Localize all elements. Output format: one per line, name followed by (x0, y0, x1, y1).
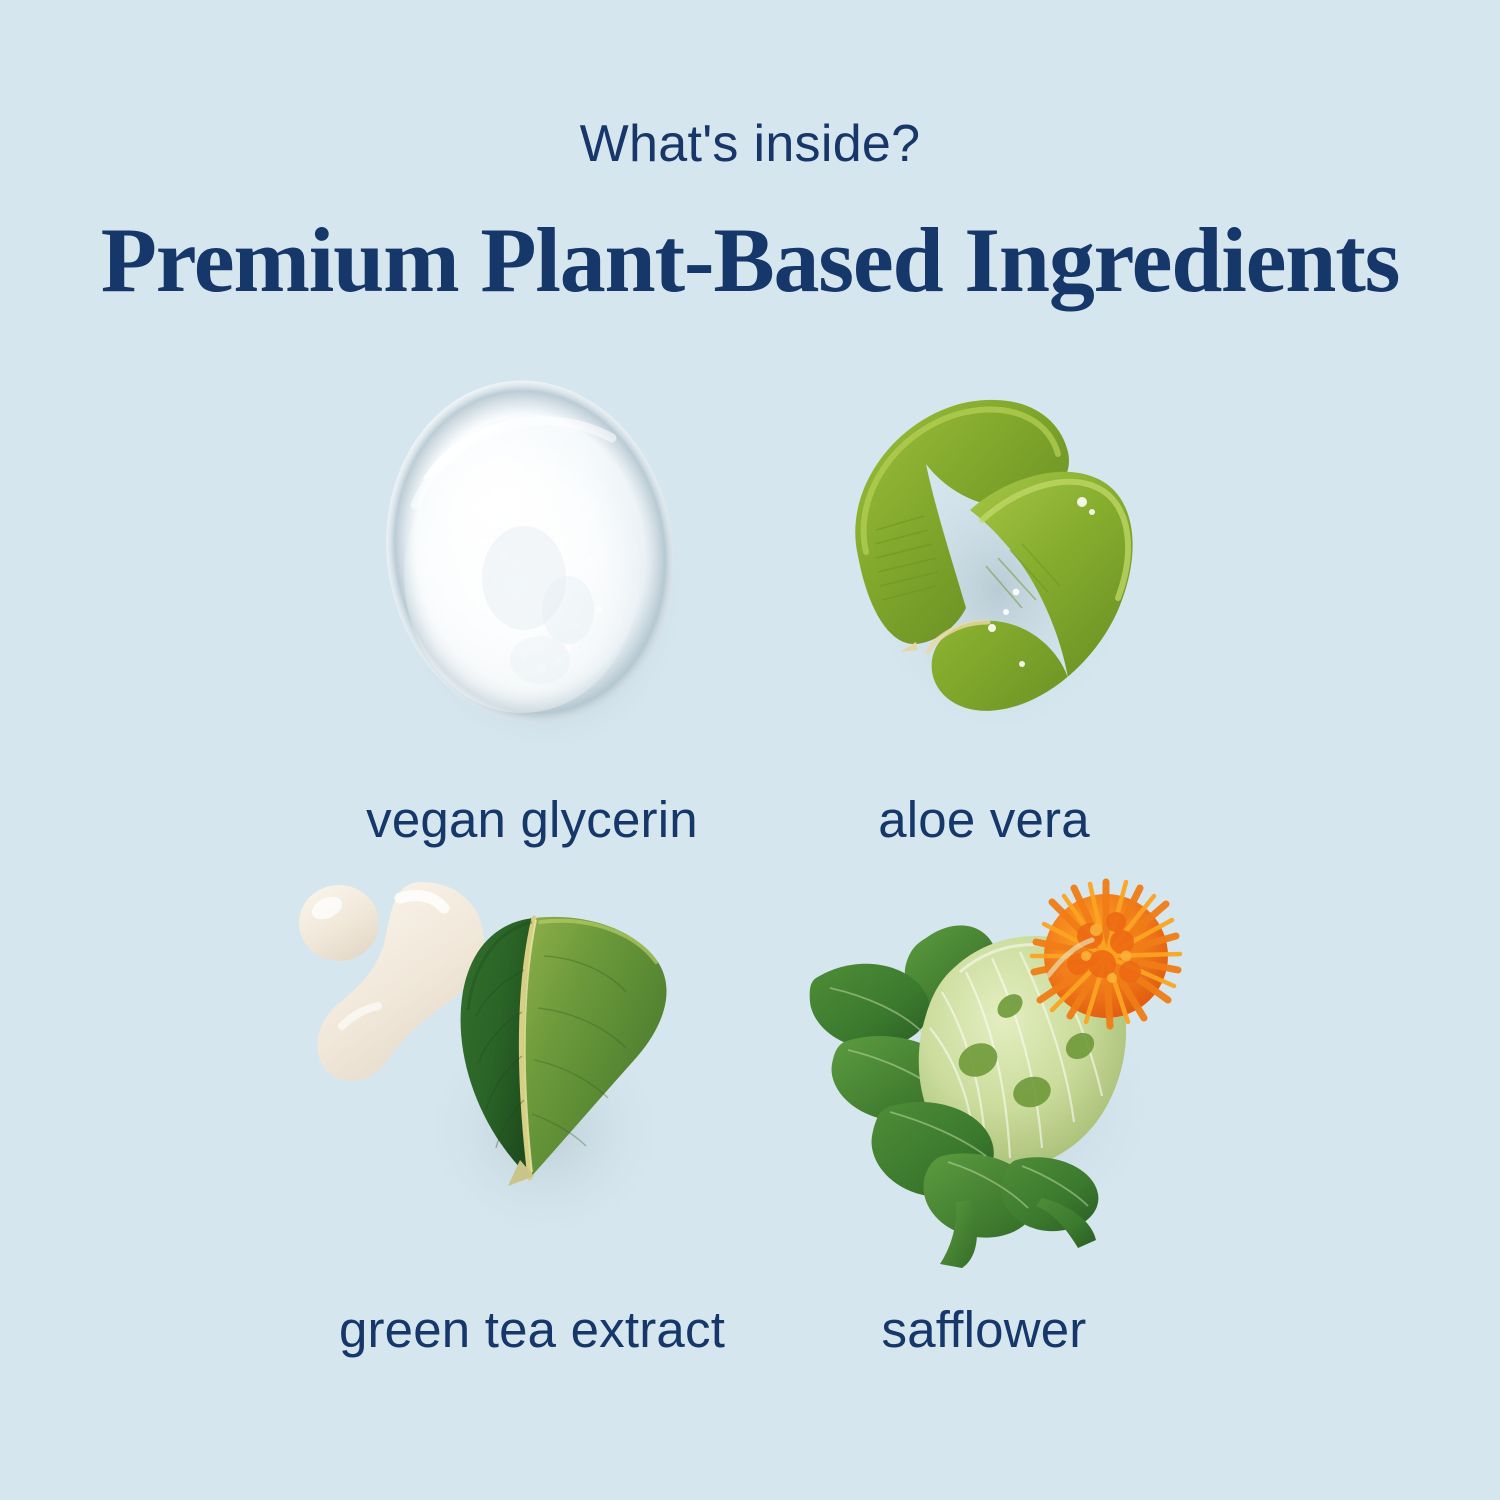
ingredient-label-green-tea-extract: green tea extract (272, 1304, 792, 1355)
ingredient-card-safflower: safflower (730, 860, 1250, 1355)
eyebrow-text: What's inside? (0, 118, 1500, 170)
ingredient-card-aloe-vera: aloe vera (730, 360, 1250, 845)
ingredient-label-vegan-glycerin: vegan glycerin (272, 794, 792, 845)
ingredient-grid: vegan glycerin (0, 360, 1500, 1470)
glycerin-droplet-image (272, 360, 792, 770)
ingredients-infographic: What's inside? Premium Plant-Based Ingre… (0, 0, 1500, 1500)
ingredient-label-safflower: safflower (724, 1304, 1244, 1355)
aloe-vera-peel-image (730, 360, 1250, 770)
ingredient-card-green-tea-extract: green tea extract (272, 860, 792, 1355)
green-tea-leaf-image (272, 860, 792, 1270)
page-title: Premium Plant-Based Ingredients (0, 212, 1500, 309)
ingredient-card-vegan-glycerin: vegan glycerin (272, 360, 792, 845)
ingredient-label-aloe-vera: aloe vera (724, 794, 1244, 845)
safflower-bud-image (730, 860, 1250, 1270)
